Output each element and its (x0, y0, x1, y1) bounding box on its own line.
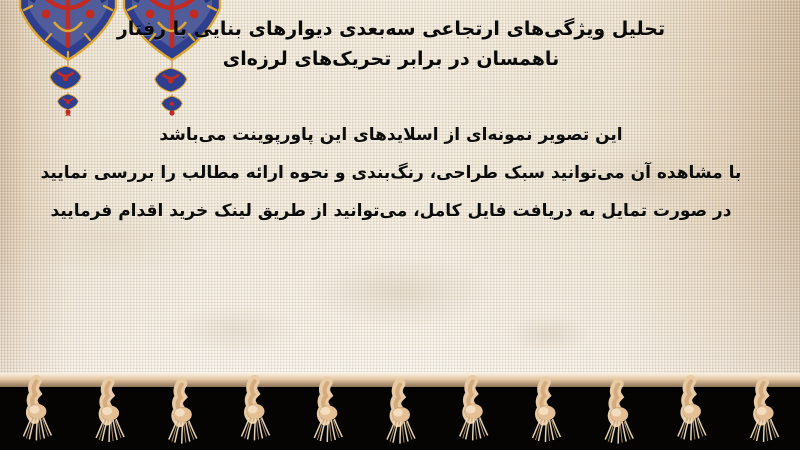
body-line-2: با مشاهده آن می‌توانید سبک طراحی، رنگ‌بن… (0, 154, 782, 192)
fringe-tassel (314, 382, 342, 442)
title-line-2: ناهمسان در برابر تحریک‌های لرزه‌ای (0, 44, 782, 74)
fringe-tassel (460, 380, 488, 440)
slide-title: تحلیل ویژگی‌های ارتجاعی سه‌بعدی دیوارهای… (0, 14, 782, 74)
slide-body: این تصویر نمونه‌ای از اسلایدهای این پاور… (0, 116, 782, 230)
fringe-tassel (387, 384, 415, 444)
fringe-tassel (533, 382, 561, 442)
body-line-1: این تصویر نمونه‌ای از اسلایدهای این پاور… (0, 116, 782, 154)
title-line-1: تحلیل ویژگی‌های ارتجاعی سه‌بعدی دیوارهای… (0, 14, 782, 44)
body-line-3: در صورت تمایل به دریافت فایل کامل، می‌تو… (0, 192, 782, 230)
fringe-tassels (0, 373, 800, 450)
fringe-tassel (96, 382, 124, 442)
fringe-tassel (751, 382, 779, 442)
slide-canvas: تحلیل ویژگی‌های ارتجاعی سه‌بعدی دیوارهای… (0, 0, 800, 450)
fringe-tassel (242, 380, 270, 440)
fringe-tassel (23, 380, 51, 440)
fringe-tassel (169, 384, 197, 444)
fringe-tassel (605, 384, 633, 444)
fringe-tassel (678, 380, 706, 440)
carpet-fringe-band (0, 373, 800, 450)
